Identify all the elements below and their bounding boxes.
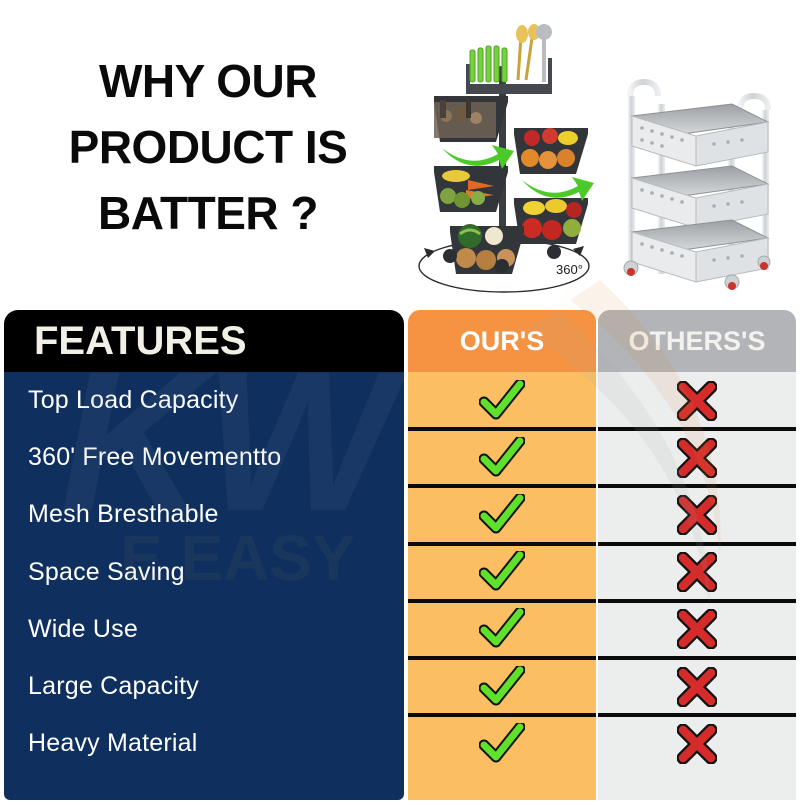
others-cell <box>598 715 796 772</box>
product-image-rotating-rack: 360° <box>404 8 604 300</box>
check-icon <box>479 437 525 479</box>
product-image-steel-trolley <box>604 44 794 302</box>
header-others: OTHERS'S <box>598 310 796 372</box>
column-ours: OUR'S <box>408 310 596 800</box>
header-ours-label: OUR'S <box>460 326 544 357</box>
others-cell <box>598 486 796 543</box>
cross-icon <box>677 552 717 592</box>
ours-cell <box>408 658 596 715</box>
check-icon <box>479 494 525 536</box>
table-row: 360' Free Movementto <box>4 429 404 486</box>
column-divider-left <box>404 310 408 800</box>
check-icon <box>479 608 525 650</box>
cross-icon <box>677 724 717 764</box>
check-icon <box>479 551 525 593</box>
others-cell <box>598 658 796 715</box>
rotation-degree-label: 360° <box>556 262 583 277</box>
ours-cell <box>408 486 596 543</box>
headline-line-1: WHY OUR <box>28 48 388 114</box>
table-row: Wide Use <box>4 601 404 658</box>
ours-cell <box>408 372 596 429</box>
feature-label: Mesh Bresthable <box>28 500 219 529</box>
feature-label: Wide Use <box>28 615 138 644</box>
feature-label: Top Load Capacity <box>28 386 238 415</box>
header-others-label: OTHERS'S <box>629 326 766 357</box>
check-icon <box>479 723 525 765</box>
cross-icon <box>677 667 717 707</box>
cross-icon <box>677 438 717 478</box>
others-cell <box>598 429 796 486</box>
comparison-table: FEATURES Top Load Capacity360' Free Move… <box>0 310 800 800</box>
features-list: Top Load Capacity360' Free MovementtoMes… <box>4 372 404 800</box>
feature-label: Large Capacity <box>28 672 199 701</box>
check-icon <box>479 666 525 708</box>
check-icon <box>479 380 525 422</box>
feature-label: Space Saving <box>28 558 185 587</box>
feature-label: 360' Free Movementto <box>28 443 281 472</box>
others-cell <box>598 601 796 658</box>
header-ours: OUR'S <box>408 310 596 372</box>
feature-label: Heavy Material <box>28 729 198 758</box>
table-row: Large Capacity <box>4 658 404 715</box>
ours-cell <box>408 544 596 601</box>
ours-cell <box>408 429 596 486</box>
others-cell <box>598 372 796 429</box>
ours-marks-list <box>408 372 596 800</box>
table-row: Top Load Capacity <box>4 372 404 429</box>
cross-icon <box>677 609 717 649</box>
others-cell <box>598 544 796 601</box>
headline-line-3: BATTER ? <box>28 180 388 246</box>
column-features: FEATURES Top Load Capacity360' Free Move… <box>4 310 404 800</box>
cross-icon <box>677 381 717 421</box>
others-marks-list <box>598 372 796 800</box>
headline-line-2: PRODUCT IS <box>28 114 388 180</box>
header-features-label: FEATURES <box>34 319 247 364</box>
column-others: OTHERS'S <box>598 310 796 800</box>
cross-icon <box>677 495 717 535</box>
table-row: Mesh Bresthable <box>4 486 404 543</box>
page-title: WHY OUR PRODUCT IS BATTER ? <box>28 48 388 246</box>
ours-cell <box>408 601 596 658</box>
ours-cell <box>408 715 596 772</box>
hero-section: WHY OUR PRODUCT IS BATTER ? 360° <box>0 0 800 312</box>
header-features: FEATURES <box>4 310 404 372</box>
table-row: Space Saving <box>4 544 404 601</box>
column-divider-right <box>596 310 598 800</box>
table-row: Heavy Material <box>4 715 404 772</box>
